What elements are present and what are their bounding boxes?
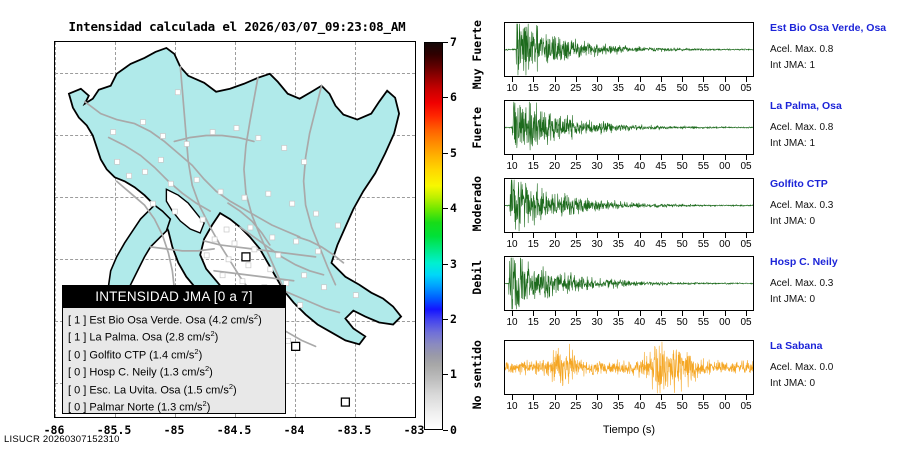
map-xtick-84: -84 — [274, 423, 314, 437]
legend-accel: 2.8 — [169, 332, 184, 344]
waveform-xaxis-labels: 101520253035404550550005 — [504, 401, 754, 415]
station-name-label[interactable]: Golfito CTP — [770, 178, 828, 190]
xaxis-tick — [746, 155, 747, 160]
waveform-trace-4[interactable] — [504, 256, 754, 311]
xaxis-tick — [746, 311, 747, 316]
xaxis-tick — [512, 233, 513, 238]
xaxis-tick-label: 40 — [634, 401, 645, 412]
colorbar-label-4: 4 — [450, 201, 457, 215]
xaxis-tick — [597, 395, 598, 400]
xaxis-tick-label: 00 — [719, 83, 730, 94]
colorbar-tick — [443, 153, 448, 154]
xaxis-tick-label: 40 — [634, 239, 645, 250]
xaxis-tick — [703, 311, 704, 316]
station-accel-max: Acel. Max. 0.8 — [770, 122, 833, 133]
xaxis-tick — [640, 77, 641, 82]
list-item: [ 1 ] La Palma. Osa (2.8 cm/s2) — [68, 329, 285, 346]
xaxis-tick-label: 25 — [570, 401, 581, 412]
xaxis-tick-label: 15 — [528, 239, 539, 250]
xaxis-tick-label: 20 — [549, 83, 560, 94]
waveform-xaxis-ticks — [504, 77, 754, 82]
xaxis-tick-label: 50 — [677, 239, 688, 250]
xaxis-tick — [533, 395, 534, 400]
station-name-label[interactable]: Hosp C. Neily — [770, 256, 838, 268]
xaxis-tick-label: 05 — [740, 401, 751, 412]
xaxis-tick — [682, 233, 683, 238]
xaxis-tick-label: 20 — [549, 317, 560, 328]
xaxis-tick — [597, 311, 598, 316]
xaxis-tick-label: 30 — [592, 83, 603, 94]
map-xtick-845: -84.5 — [214, 423, 254, 437]
xaxis-tick-label: 05 — [740, 161, 751, 172]
xaxis-tick-label: 50 — [677, 83, 688, 94]
station-name-label[interactable]: La Sabana — [770, 340, 823, 352]
xaxis-tick — [555, 395, 556, 400]
legend-station: La Palma. Osa — [89, 332, 162, 344]
station-int-jma: Int JMA: 0 — [770, 294, 815, 305]
colorbar-label-7: 7 — [450, 35, 457, 49]
xaxis-tick-label: 10 — [506, 239, 517, 250]
xaxis-tick-label: 10 — [506, 83, 517, 94]
xaxis-tick-label: 55 — [698, 83, 709, 94]
xaxis-tick — [576, 233, 577, 238]
xaxis-tick — [512, 77, 513, 82]
xaxis-tick — [618, 155, 619, 160]
legend-level: [ 0 ] — [68, 349, 86, 361]
legend-level: [ 1 ] — [68, 332, 86, 344]
xaxis-tick-label: 35 — [613, 317, 624, 328]
list-item: [ 1 ] Est Bio Osa Verde. Osa (4.2 cm/s2) — [68, 312, 285, 329]
xaxis-tick-label: 30 — [592, 239, 603, 250]
xaxis-tick-label: 10 — [506, 401, 517, 412]
legend-header: INTENSIDAD JMA [0 a 7] — [63, 286, 285, 308]
station-int-jma: Int JMA: 1 — [770, 138, 815, 149]
xaxis-tick-label: 20 — [549, 239, 560, 250]
xaxis-tick — [533, 233, 534, 238]
xaxis-tick-label: 45 — [655, 317, 666, 328]
xaxis-tick-label: 55 — [698, 401, 709, 412]
xaxis-tick — [725, 77, 726, 82]
xaxis-tick — [682, 77, 683, 82]
xaxis-tick-label: 10 — [506, 161, 517, 172]
colorbar-label-3: 3 — [450, 257, 457, 271]
station-name-label[interactable]: Est Bio Osa Verde, Osa — [770, 22, 886, 34]
list-item: [ 0 ] Palmar Norte (1.3 cm/s2) — [68, 399, 285, 416]
xaxis-tick — [618, 233, 619, 238]
colorbar-tick — [443, 42, 448, 43]
xaxis-tick-label: 35 — [613, 161, 624, 172]
xaxis-tick — [725, 395, 726, 400]
colorbar-label-5: 5 — [450, 146, 457, 160]
xaxis-tick-label: 00 — [719, 161, 730, 172]
xaxis-tick — [725, 311, 726, 316]
legend-station: Esc. La Uvita. Osa — [89, 384, 180, 396]
xaxis-tick — [618, 395, 619, 400]
waveform-trace-3[interactable] — [504, 178, 754, 233]
colorbar-label-6: 6 — [450, 90, 457, 104]
legend-unit: cm/s — [206, 384, 229, 396]
xaxis-tick-label: 45 — [655, 161, 666, 172]
xaxis-tick — [640, 155, 641, 160]
xaxis-tick-label: 25 — [570, 161, 581, 172]
legend-unit: cm/s — [187, 332, 210, 344]
station-accel-max: Acel. Max. 0.3 — [770, 200, 833, 211]
xaxis-tick — [703, 395, 704, 400]
colorbar-tick — [443, 208, 448, 209]
xaxis-tick-label: 55 — [698, 161, 709, 172]
legend-accel: 1.3 — [161, 402, 176, 414]
waveform-xaxis-ticks — [504, 233, 754, 238]
xaxis-tick — [576, 77, 577, 82]
waveform-trace-5[interactable] — [504, 340, 754, 395]
watermark-text: LISUCR 20260307152310 — [4, 434, 120, 445]
xaxis-tick-label: 50 — [677, 161, 688, 172]
xaxis-tick-label: 35 — [613, 239, 624, 250]
xaxis-tick — [746, 395, 747, 400]
legend-station: Palmar Norte — [89, 402, 154, 414]
xaxis-tick — [597, 77, 598, 82]
xaxis-tick — [618, 77, 619, 82]
colorbar-label-2: 2 — [450, 312, 457, 326]
xaxis-tick — [640, 395, 641, 400]
xaxis-tick — [597, 233, 598, 238]
xaxis-tick — [703, 233, 704, 238]
legend-level: [ 0 ] — [68, 384, 86, 396]
xaxis-tick-label: 30 — [592, 317, 603, 328]
legend-station: Est Bio Osa Verde. Osa — [89, 315, 205, 327]
xaxis-tick-label: 30 — [592, 161, 603, 172]
legend-unit: cm/s — [179, 402, 202, 414]
waveform-xaxis-ticks — [504, 395, 754, 400]
xaxis-tick-label: 15 — [528, 83, 539, 94]
xaxis-tick — [746, 77, 747, 82]
xaxis-tick-label: 50 — [677, 401, 688, 412]
legend-accel: 1.5 — [187, 384, 202, 396]
station-accel-max: Acel. Max. 0.3 — [770, 278, 833, 289]
xaxis-tick-label: 05 — [740, 239, 751, 250]
xaxis-tick-label: 55 — [698, 239, 709, 250]
xaxis-tick — [661, 395, 662, 400]
colorbar-tick — [443, 374, 448, 375]
xaxis-tick-label: 25 — [570, 317, 581, 328]
legend-station: Golfito CTP — [89, 349, 146, 361]
xaxis-tick — [533, 77, 534, 82]
waveform-trace-1[interactable] — [504, 22, 754, 77]
xaxis-tick — [746, 233, 747, 238]
xaxis-tick-label: 55 — [698, 317, 709, 328]
xaxis-tick-label: 00 — [719, 239, 730, 250]
xaxis-tick — [512, 311, 513, 316]
xaxis-tick — [533, 155, 534, 160]
xaxis-tick-label: 05 — [740, 83, 751, 94]
xaxis-tick-label: 40 — [634, 83, 645, 94]
xaxis-tick-label: 45 — [655, 83, 666, 94]
xaxis-tick-label: 35 — [613, 83, 624, 94]
xaxis-tick — [555, 77, 556, 82]
legend-level: [ 0 ] — [68, 367, 86, 379]
list-item: [ 0 ] Esc. La Uvita. Osa (1.5 cm/s2) — [68, 382, 285, 399]
xaxis-tick-label: 30 — [592, 401, 603, 412]
station-int-jma: Int JMA: 0 — [770, 216, 815, 227]
station-int-jma: Int JMA: 1 — [770, 60, 815, 71]
xaxis-tick — [640, 233, 641, 238]
map-xtick-835: -83.5 — [334, 423, 374, 437]
xaxis-tick — [682, 395, 683, 400]
waveform-trace-2[interactable] — [504, 100, 754, 155]
station-accel-max: Acel. Max. 0.8 — [770, 44, 833, 55]
xaxis-tick — [533, 311, 534, 316]
xaxis-tick-label: 40 — [634, 161, 645, 172]
list-item: [ 0 ] Golfito CTP (1.4 cm/s2) — [68, 347, 285, 364]
map-xtick-85: -85 — [154, 423, 194, 437]
xaxis-tick-label: 00 — [719, 401, 730, 412]
xaxis-tick-label: 25 — [570, 239, 581, 250]
colorbar-tick — [443, 97, 448, 98]
colorbar-label-1: 1 — [450, 367, 457, 381]
xaxis-tick — [682, 311, 683, 316]
colorbar-label-0: 0 — [450, 423, 457, 437]
legend-level: [ 1 ] — [68, 315, 86, 327]
colorbar-tick — [443, 430, 448, 431]
xaxis-tick — [640, 311, 641, 316]
waveform-xaxis-ticks — [504, 155, 754, 160]
xaxis-tick-label: 45 — [655, 239, 666, 250]
xaxis-tick — [555, 311, 556, 316]
xaxis-tick — [682, 155, 683, 160]
xaxis-tick — [703, 77, 704, 82]
xaxis-tick — [576, 395, 577, 400]
legend-rows: [ 1 ] Est Bio Osa Verde. Osa (4.2 cm/s2)… — [63, 308, 285, 416]
xaxis-tick-label: 20 — [549, 401, 560, 412]
xaxis-tick-label: 45 — [655, 401, 666, 412]
xaxis-tick-label: 15 — [528, 161, 539, 172]
legend-unit: cm/s — [171, 349, 194, 361]
xaxis-tick — [725, 233, 726, 238]
legend-accel: 4.2 — [212, 315, 227, 327]
map-title: Intensidad calculada el 2026/03/07_09:23… — [62, 19, 412, 34]
xaxis-tick — [555, 233, 556, 238]
xaxis-tick-label: 20 — [549, 161, 560, 172]
xaxis-tick — [576, 311, 577, 316]
legend-level: [ 0 ] — [68, 402, 86, 414]
intensity-colorbar — [424, 42, 443, 430]
waveform-xaxis-labels: 101520253035404550550005 — [504, 239, 754, 253]
waveform-xaxis-ticks — [504, 311, 754, 316]
xaxis-tick — [597, 155, 598, 160]
xaxis-tick — [661, 311, 662, 316]
colorbar-tick — [443, 319, 448, 320]
legend-unit: cm/s — [182, 367, 205, 379]
xaxis-tick — [618, 311, 619, 316]
xaxis-tick — [512, 395, 513, 400]
colorbar-tick — [443, 264, 448, 265]
waveform-panel: 101520253035404550550005Est Bio Osa Verd… — [470, 0, 910, 460]
legend-unit: cm/s — [231, 315, 254, 327]
xaxis-tick-label: 00 — [719, 317, 730, 328]
waveform-xaxis-labels: 101520253035404550550005 — [504, 317, 754, 331]
time-axis-label: Tiempo (s) — [504, 424, 754, 436]
station-int-jma: Int JMA: 0 — [770, 378, 815, 389]
station-accel-max: Acel. Max. 0.0 — [770, 362, 833, 373]
intensity-legend-box: INTENSIDAD JMA [0 a 7] [ 1 ] Est Bio Osa… — [62, 285, 286, 414]
legend-station: Hosp C. Neily — [89, 367, 156, 379]
list-item: [ 0 ] Hosp C. Neily (1.3 cm/s2) — [68, 364, 285, 381]
xaxis-tick — [555, 155, 556, 160]
xaxis-tick-label: 35 — [613, 401, 624, 412]
xaxis-tick — [661, 155, 662, 160]
xaxis-tick-label: 15 — [528, 401, 539, 412]
xaxis-tick-label: 40 — [634, 317, 645, 328]
xaxis-tick — [725, 155, 726, 160]
legend-accel: 1.4 — [153, 349, 168, 361]
xaxis-tick-label: 15 — [528, 317, 539, 328]
xaxis-tick — [576, 155, 577, 160]
waveform-xaxis-labels: 101520253035404550550005 — [504, 161, 754, 175]
map-panel: Intensidad calculada el 2026/03/07_09:23… — [0, 0, 470, 460]
station-name-label[interactable]: La Palma, Osa — [770, 100, 842, 112]
xaxis-tick-label: 10 — [506, 317, 517, 328]
waveform-xaxis-labels: 101520253035404550550005 — [504, 83, 754, 97]
xaxis-tick — [661, 233, 662, 238]
xaxis-tick-label: 05 — [740, 317, 751, 328]
xaxis-tick-label: 25 — [570, 83, 581, 94]
xaxis-tick-label: 50 — [677, 317, 688, 328]
xaxis-tick — [661, 77, 662, 82]
xaxis-tick — [512, 155, 513, 160]
xaxis-tick — [703, 155, 704, 160]
legend-accel: 1.3 — [163, 367, 178, 379]
